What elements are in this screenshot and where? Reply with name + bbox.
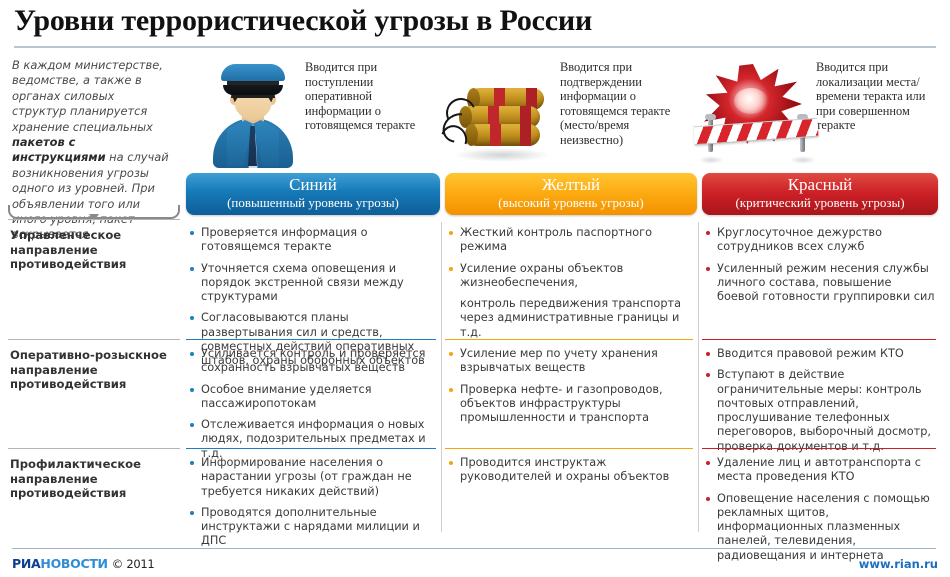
bullet-list: Жесткий контроль паспортного режима Усил…	[449, 226, 693, 340]
row-divider-1	[8, 339, 180, 340]
col-divider-blue-1	[186, 339, 436, 340]
list-item: Круглосуточное дежурство сотрудников все…	[706, 226, 936, 255]
row-label-preventive: Профилактическое направление противодейс…	[10, 457, 180, 501]
list-item: Уточняется схема оповещения и порядок эк…	[190, 262, 436, 305]
content-yellow-operational: Усиление мер по учету хранения взрывчаты…	[449, 347, 693, 432]
bullet-list: Информирование населения о нарастании уг…	[190, 456, 436, 549]
list-item: Вводится правовой режим КТО	[706, 347, 936, 361]
level-subtitle-red: (критический уровень угрозы)	[702, 195, 938, 210]
level-description-blue: Вводится при поступлении оперативной инф…	[305, 60, 423, 133]
list-item: Проводится инструктаж руководителей и ох…	[449, 456, 693, 485]
bullet-list: Круглосуточное дежурство сотрудников все…	[706, 226, 936, 304]
website-url[interactable]: www.rian.ru	[859, 557, 938, 571]
list-item: Проводятся дополнительные инструктажи с …	[190, 506, 436, 549]
list-item: Отслеживается информация о новых людях, …	[190, 418, 436, 461]
explosion-icon	[690, 60, 820, 172]
row-divider-top	[8, 219, 180, 220]
list-item: контроль передвижения транспорта через а…	[449, 297, 693, 340]
title-divider	[14, 46, 936, 48]
col-divider-yellow-2	[445, 448, 693, 449]
row-label-managerial: Управленческое направление противодейств…	[10, 228, 180, 272]
police-officer-icon	[207, 62, 299, 172]
bullet-list: Проводится инструктаж руководителей и ох…	[449, 456, 693, 485]
level-description-red: Вводится при локализации места/времени т…	[816, 60, 934, 133]
logo-ria: РИА	[12, 556, 40, 571]
row-label-operational: Оперативно-розыскное направление противо…	[10, 348, 180, 392]
content-red-managerial: Круглосуточное дежурство сотрудников все…	[706, 226, 936, 311]
list-item: Усиленный режим несения службы личного с…	[706, 262, 936, 305]
list-item: Проверка нефте- и газопроводов, объектов…	[449, 383, 693, 426]
copyright: © 2011	[112, 557, 155, 571]
dynamite-icon	[440, 68, 558, 170]
column-separator-1	[441, 222, 442, 532]
content-blue-operational: Усиливается контроль и проверяется сохра…	[190, 347, 436, 468]
level-description-yellow: Вводится при подтверждении информации о …	[560, 60, 678, 148]
level-banner-blue[interactable]: Синий (повышенный уровень угрозы)	[186, 173, 440, 215]
list-item: Усиление мер по учету хранения взрывчаты…	[449, 347, 693, 376]
list-item: Проверяется информация о готовящемся тер…	[190, 226, 436, 255]
list-item: Вступают в действие ограничительные меры…	[706, 368, 936, 454]
list-item: Усиливается контроль и проверяется сохра…	[190, 347, 436, 376]
row-divider-2	[8, 448, 180, 449]
level-name-yellow: Желтый	[445, 173, 697, 195]
intro-brace	[8, 205, 180, 219]
col-divider-red-2	[702, 448, 936, 449]
list-item: Оповещение населения с помощью рекламных…	[706, 492, 936, 563]
content-red-operational: Вводится правовой режим КТО Вступают в д…	[706, 347, 936, 461]
list-item: Удаление лиц и автотранспорта с места пр…	[706, 456, 936, 485]
ria-novosti-logo: РИАНОВОСТИ © 2011	[12, 556, 154, 571]
col-divider-red-1	[702, 339, 936, 340]
page-title: Уровни террористической угрозы в России	[14, 4, 592, 38]
level-subtitle-blue: (повышенный уровень угрозы)	[186, 195, 440, 210]
list-item: Информирование населения о нарастании уг…	[190, 456, 436, 499]
col-divider-blue-2	[186, 448, 436, 449]
logo-novosti: НОВОСТИ	[40, 556, 107, 571]
level-banner-yellow[interactable]: Желтый (высокий уровень угрозы)	[445, 173, 697, 215]
col-divider-yellow-1	[445, 339, 693, 340]
bullet-list: Усиливается контроль и проверяется сохра…	[190, 347, 436, 461]
list-item: Жесткий контроль паспортного режима	[449, 226, 693, 255]
level-name-blue: Синий	[186, 173, 440, 195]
footer-divider	[12, 548, 936, 549]
intro-part1: В каждом министерстве, ведомстве, а такж…	[12, 58, 163, 134]
content-yellow-preventive: Проводится инструктаж руководителей и ох…	[449, 456, 693, 492]
infographic-page: Уровни террористической угрозы в России …	[0, 0, 950, 577]
level-banner-red[interactable]: Красный (критический уровень угрозы)	[702, 173, 938, 215]
content-blue-preventive: Информирование населения о нарастании уг…	[190, 456, 436, 556]
content-yellow-managerial: Жесткий контроль паспортного режима Усил…	[449, 226, 693, 347]
intro-bold: пакетов с инструкциями	[12, 135, 106, 164]
level-name-red: Красный	[702, 173, 938, 195]
content-red-preventive: Удаление лиц и автотранспорта с места пр…	[706, 456, 936, 570]
bullet-list: Усиление мер по учету хранения взрывчаты…	[449, 347, 693, 425]
column-separator-2	[698, 222, 699, 532]
list-item: Усиление охраны объектов жизнеобеспечени…	[449, 262, 693, 291]
level-subtitle-yellow: (высокий уровень угрозы)	[445, 195, 697, 210]
bullet-list: Вводится правовой режим КТО Вступают в д…	[706, 347, 936, 454]
list-item: Особое внимание уделяется пассажиропоток…	[190, 383, 436, 412]
